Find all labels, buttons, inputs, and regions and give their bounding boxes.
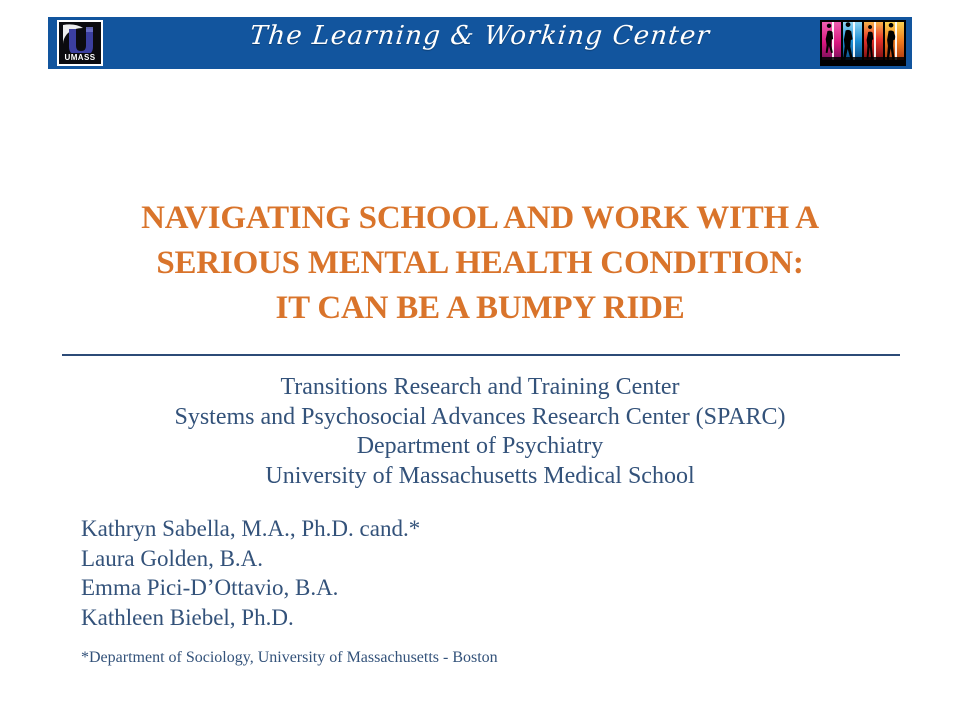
slide-title-line-3: IT CAN BE A BUMPY RIDE — [60, 286, 900, 331]
title-slide: UMASS The Learning & Working Center — [0, 0, 960, 720]
author-line-3: Emma Pici-D’Ottavio, B.A. — [81, 573, 781, 603]
umass-wordmark: UMASS — [59, 54, 101, 62]
affiliation-line-2: Systems and Psychosocial Advances Resear… — [60, 403, 900, 433]
author-line-4: Kathleen Biebel, Ph.D. — [81, 603, 781, 633]
author-line-2: Laura Golden, B.A. — [81, 544, 781, 574]
affiliation-line-4: University of Massachusetts Medical Scho… — [60, 462, 900, 492]
author-line-1: Kathryn Sabella, M.A., Ph.D. cand.* — [81, 514, 781, 544]
header-banner: UMASS The Learning & Working Center — [48, 17, 912, 69]
slide-title-line-1: NAVIGATING SCHOOL AND WORK WITH A — [60, 196, 900, 241]
affiliation-line-3: Department of Psychiatry — [60, 432, 900, 462]
banner-title: The Learning & Working Center — [48, 21, 912, 51]
footnote: *Department of Sociology, University of … — [81, 648, 841, 668]
authors-block: Kathryn Sabella, M.A., Ph.D. cand.* Laur… — [81, 514, 781, 632]
affiliation-line-1: Transitions Research and Training Center — [60, 373, 900, 403]
slide-title-line-2: SERIOUS MENTAL HEALTH CONDITION: — [60, 241, 900, 286]
affiliation-block: Transitions Research and Training Center… — [60, 373, 900, 491]
people-silhouettes-logo — [820, 20, 906, 66]
title-divider — [62, 354, 900, 356]
slide-title: NAVIGATING SCHOOL AND WORK WITH A SERIOU… — [60, 196, 900, 331]
